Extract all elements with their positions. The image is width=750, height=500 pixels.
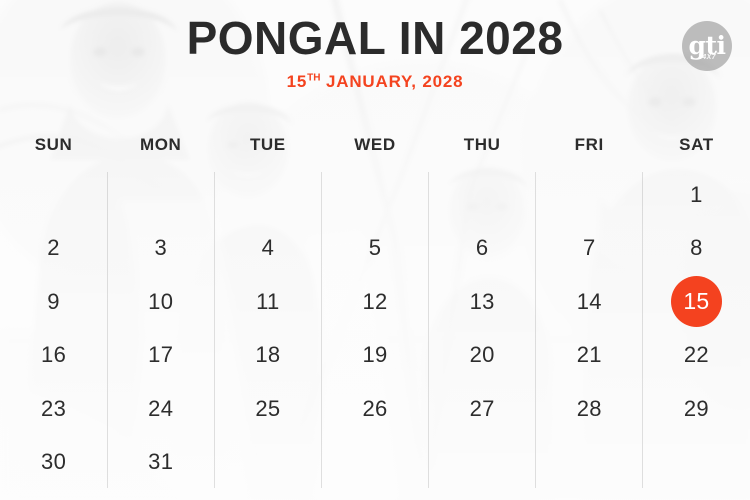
day-cell[interactable]: 25 [214,382,321,436]
weekday-label-mon: MON [107,135,214,155]
day-cell[interactable]: 28 [536,382,643,436]
day-number: 19 [362,342,387,368]
day-cell[interactable]: 31 [107,436,214,490]
day-number: 9 [47,289,60,315]
day-cell[interactable]: 19 [321,329,428,383]
day-number: 4 [262,235,275,261]
festival-date-day: 15 [287,72,308,91]
festival-date-monthyear: JANUARY, 2028 [321,72,464,91]
day-cell-empty [321,436,428,490]
gti-logo[interactable]: gti 24X7 [682,21,732,71]
day-cell[interactable]: 29 [643,382,750,436]
day-cell[interactable]: 21 [536,329,643,383]
day-cell[interactable]: 12 [321,275,428,329]
festival-date-ordinal-suffix: TH [307,73,320,84]
gti-logo-tagline: 24X7 [698,54,716,61]
day-number: 13 [470,289,495,315]
weekday-header-row: SUN MON TUE WED THU FRI SAT [0,135,750,155]
day-cell[interactable]: 14 [536,275,643,329]
day-number: 16 [41,342,66,368]
day-number: 2 [47,235,60,261]
day-number: 23 [41,396,66,422]
day-cell-empty [0,168,107,222]
day-cell[interactable]: 7 [536,222,643,276]
day-number: 1 [690,182,703,208]
day-number: 6 [476,235,489,261]
day-cell[interactable]: 1 [643,168,750,222]
weekday-label-sat: SAT [643,135,750,155]
festival-date-subtitle: 15TH JANUARY, 2028 [0,72,750,92]
weekday-label-thu: THU [429,135,536,155]
calendar-grid: 1234567891011121314151617181920212223242… [0,168,750,488]
day-cell[interactable]: 18 [214,329,321,383]
day-number: 25 [255,396,280,422]
day-number: 3 [154,235,167,261]
weekday-label-wed: WED [321,135,428,155]
day-number: 20 [470,342,495,368]
day-number: 12 [362,289,387,315]
day-cell[interactable]: 8 [643,222,750,276]
day-cell[interactable]: 4 [214,222,321,276]
day-cell[interactable]: 20 [429,329,536,383]
day-cell[interactable]: 13 [429,275,536,329]
day-cell-empty [429,436,536,490]
page-title: PONGAL IN 2028 [0,0,750,62]
day-number: 21 [577,342,602,368]
day-cell-empty [214,436,321,490]
day-number: 8 [690,235,703,261]
weekday-label-sun: SUN [0,135,107,155]
day-number: 28 [577,396,602,422]
day-cell[interactable]: 11 [214,275,321,329]
day-cell[interactable]: 27 [429,382,536,436]
day-cell-empty [536,168,643,222]
day-number: 14 [577,289,602,315]
day-cell-empty [321,168,428,222]
day-cell-empty [643,436,750,490]
day-cell[interactable]: 5 [321,222,428,276]
day-number: 26 [362,396,387,422]
day-cell[interactable]: 10 [107,275,214,329]
poster-header: PONGAL IN 2028 15TH JANUARY, 2028 [0,0,750,92]
day-number: 10 [148,289,173,315]
day-cell[interactable]: 26 [321,382,428,436]
weekday-label-fri: FRI [536,135,643,155]
day-cell-empty [536,436,643,490]
day-number: 31 [148,449,173,475]
day-cell[interactable]: 16 [0,329,107,383]
highlighted-day-number: 15 [671,276,722,327]
day-cell[interactable]: 17 [107,329,214,383]
day-number: 17 [148,342,173,368]
day-cell[interactable]: 24 [107,382,214,436]
day-number: 7 [583,235,596,261]
day-cell-empty [214,168,321,222]
day-number: 11 [256,289,279,315]
day-cell[interactable]: 22 [643,329,750,383]
day-number: 30 [41,449,66,475]
day-number: 18 [255,342,280,368]
day-cell-empty [107,168,214,222]
weekday-label-tue: TUE [214,135,321,155]
day-number: 22 [684,342,709,368]
day-number: 27 [470,396,495,422]
day-cell[interactable]: 6 [429,222,536,276]
day-cell[interactable]: 30 [0,436,107,490]
calendar-poster: PONGAL IN 2028 15TH JANUARY, 2028 gti 24… [0,0,750,500]
day-cell[interactable]: 2 [0,222,107,276]
day-number: 24 [148,396,173,422]
day-number: 5 [369,235,382,261]
day-cell[interactable]: 15 [643,275,750,329]
day-cell-empty [429,168,536,222]
day-cell[interactable]: 3 [107,222,214,276]
day-cells: 1234567891011121314151617181920212223242… [0,168,750,488]
day-number: 29 [684,396,709,422]
day-cell[interactable]: 23 [0,382,107,436]
day-cell[interactable]: 9 [0,275,107,329]
